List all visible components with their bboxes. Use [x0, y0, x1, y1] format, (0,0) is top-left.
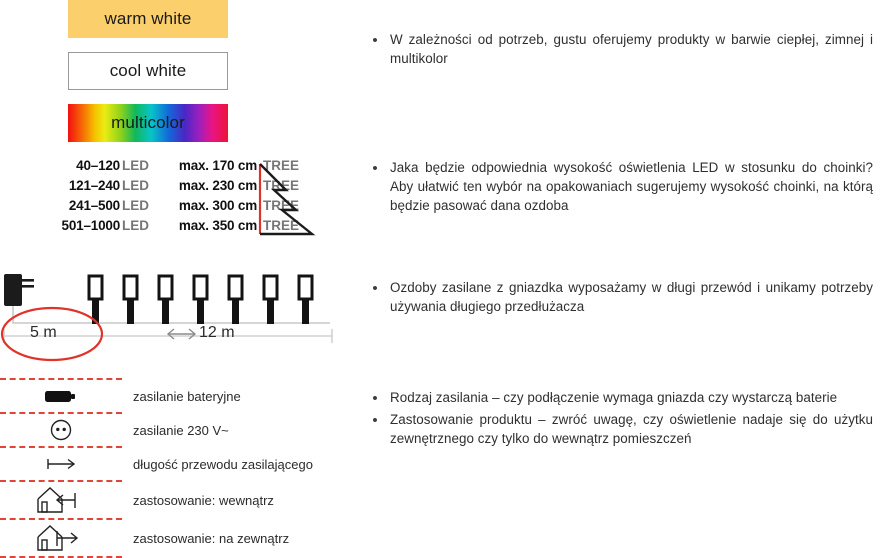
light-chain-diagram: 5 m 12 m: [0, 266, 340, 371]
symbol-legend: zasilanie bateryjne zasilanie 230 V~: [0, 378, 340, 558]
led-count-value: 121–240: [0, 178, 120, 193]
legend-label: długość przewodu zasilającego: [122, 457, 313, 472]
swatch-cool-white: cool white: [68, 52, 228, 90]
bullet-group: • W zależności od potrzeb, gustu oferuje…: [360, 30, 873, 70]
bullet-dot-icon: •: [360, 388, 390, 408]
swatch-warm-white-label: warm white: [105, 9, 192, 29]
led-count-value: 40–120: [0, 158, 120, 173]
swatch-cool-white-label: cool white: [110, 61, 187, 81]
led-bulb-group: [89, 276, 312, 324]
cable-length-label: 5 m: [30, 324, 57, 342]
lit-length-label: 12 m: [199, 324, 235, 342]
house-outdoor-icon: [0, 522, 122, 554]
tree-height-value: max. 230 cm: [149, 178, 257, 193]
legend-label: zastosowanie: wewnątrz: [122, 493, 274, 508]
led-unit-label: LED: [120, 178, 149, 193]
list-item: zasilanie 230 V~: [0, 414, 340, 446]
swatch-multicolor-label: multicolor: [111, 113, 185, 133]
plug-icon: [4, 274, 34, 306]
led-unit-label: LED: [120, 198, 149, 213]
led-count-value: 241–500: [0, 198, 120, 213]
bullet-dot-icon: •: [360, 158, 390, 178]
bullet-text: Zastosowanie produktu – zwróć uwagę, czy…: [390, 410, 873, 448]
color-swatch-list: warm white cool white multicolor: [0, 0, 340, 156]
list-item: długość przewodu zasilającego: [0, 448, 340, 480]
christmas-tree-icon: [252, 160, 320, 245]
house-indoor-icon: [0, 484, 122, 516]
left-illustration-column: warm white cool white multicolor 40–120 …: [0, 0, 340, 552]
list-item: zastosowanie: wewnątrz: [0, 482, 340, 518]
list-item: • Rodzaj zasilania – czy podłączenie wym…: [360, 388, 873, 408]
led-height-table: 40–120 LED max. 170 cm TREE 121–240 LED …: [0, 158, 340, 238]
battery-icon: [0, 387, 122, 405]
bullet-group: • Jaka będzie odpowiednia wysokość oświe…: [360, 158, 873, 217]
tree-height-value: max. 170 cm: [149, 158, 257, 173]
led-unit-label: LED: [120, 218, 149, 233]
bullet-group: • Ozdoby zasilane z gniazdka wyposażamy …: [360, 278, 873, 318]
swatch-warm-white: warm white: [68, 0, 228, 38]
list-item: • Zastosowanie produktu – zwróć uwagę, c…: [360, 410, 873, 448]
bullet-text: Jaka będzie odpowiednia wysokość oświetl…: [390, 158, 873, 215]
bullet-dot-icon: •: [360, 278, 390, 298]
bullet-text: Rodzaj zasilania – czy podłączenie wymag…: [390, 388, 837, 407]
tree-height-value: max. 350 cm: [149, 218, 257, 233]
bullet-text: Ozdoby zasilane z gniazdka wyposażamy w …: [390, 278, 873, 316]
legend-label: zastosowanie: na zewnątrz: [122, 531, 289, 546]
power-socket-icon: [0, 417, 122, 443]
legend-label: zasilanie 230 V~: [122, 423, 229, 438]
bullet-dot-icon: •: [360, 410, 390, 430]
bullet-group: • Rodzaj zasilania – czy podłączenie wym…: [360, 388, 873, 450]
tree-height-value: max. 300 cm: [149, 198, 257, 213]
list-item: zastosowanie: na zewnątrz: [0, 520, 340, 556]
bullet-dot-icon: •: [360, 30, 390, 50]
list-item: • W zależności od potrzeb, gustu oferuje…: [360, 30, 873, 68]
right-text-column: • W zależności od potrzeb, gustu oferuje…: [360, 0, 880, 552]
led-unit-label: LED: [120, 158, 149, 173]
swatch-multicolor: multicolor: [68, 104, 228, 142]
led-count-value: 501–1000: [0, 218, 120, 233]
span-arrow-icon: [168, 329, 195, 339]
cable-length-icon: [0, 455, 122, 473]
bullet-text: W zależności od potrzeb, gustu oferujemy…: [390, 30, 873, 68]
list-item: zasilanie bateryjne: [0, 380, 340, 412]
list-item: • Ozdoby zasilane z gniazdka wyposażamy …: [360, 278, 873, 316]
list-item: • Jaka będzie odpowiednia wysokość oświe…: [360, 158, 873, 215]
legend-label: zasilanie bateryjne: [122, 389, 241, 404]
